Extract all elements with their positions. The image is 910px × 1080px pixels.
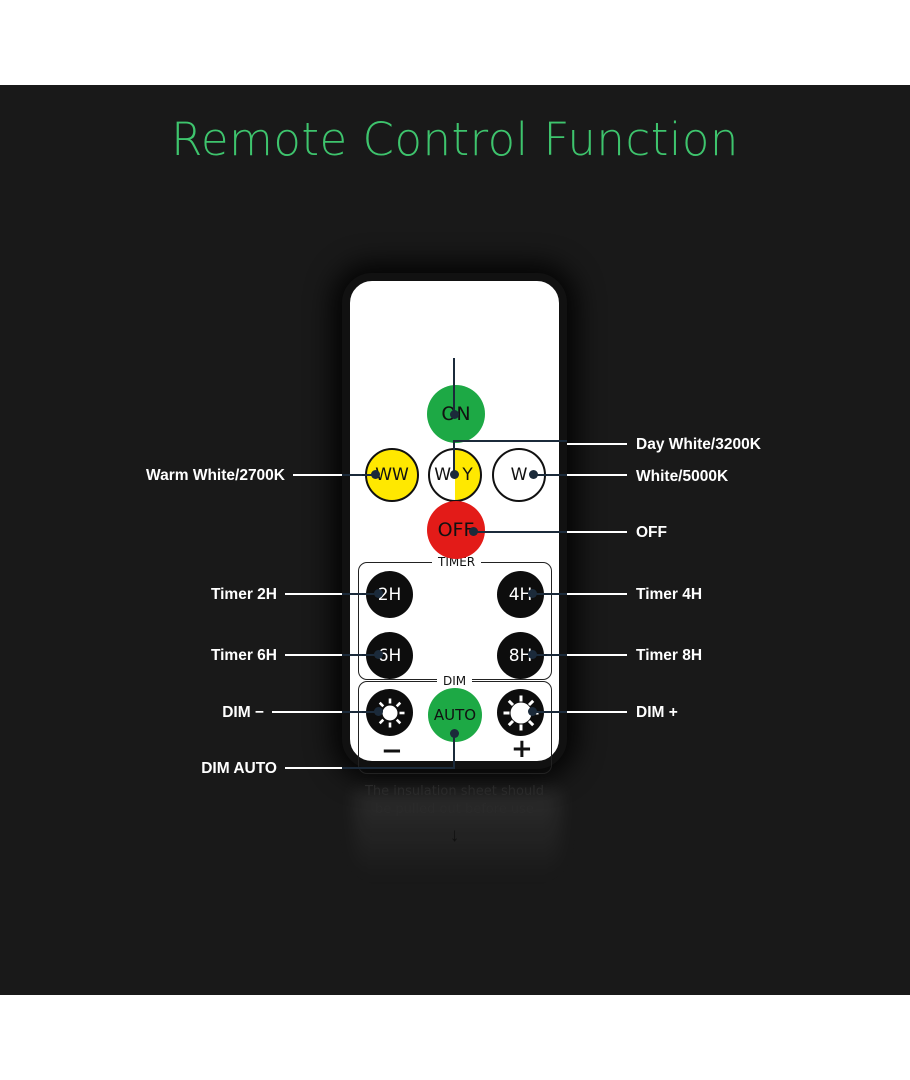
leader-dot-timer-6h — [374, 650, 383, 659]
leader-line-timer-4h — [567, 593, 627, 595]
leader-dot-on — [450, 410, 459, 419]
leader-inner-off — [472, 531, 567, 533]
callout-timer-4h: Timer 4H — [636, 586, 702, 604]
leader-inner-day-white-h — [453, 440, 567, 442]
callout-dim-auto: DIM AUTO — [73, 760, 277, 778]
leader-line-off — [567, 531, 627, 533]
leader-line-dim-plus — [567, 711, 627, 713]
leader-dot-dim-plus — [528, 707, 537, 716]
leader-line-timer-8h — [567, 654, 627, 656]
insulation-note: The insulation sheet should be pulled ou… — [352, 783, 557, 818]
callout-timer-2h: Timer 2H — [73, 586, 277, 604]
leader-dot-off — [469, 527, 478, 536]
callout-day-white: Day White/3200K — [636, 436, 761, 454]
callout-dim-minus: DIM − — [73, 704, 264, 722]
callout-on: ON — [383, 312, 523, 330]
insulation-note-line2: be pulled out before use — [352, 801, 557, 819]
leader-dot-timer-4h — [528, 589, 537, 598]
leader-line-day-white — [567, 443, 627, 445]
dim-section-label: DIM — [437, 674, 472, 688]
leader-dot-white-5000k — [529, 470, 538, 479]
dim-minus-sign: − — [381, 738, 403, 764]
page-root: Remote Control Function — [0, 0, 910, 1080]
callout-dim-plus: DIM + — [636, 704, 678, 722]
leader-inner-dim-auto-v — [453, 733, 455, 769]
leader-inner-on — [453, 358, 455, 414]
leader-dot-timer-8h — [528, 650, 537, 659]
dim-plus-sign: + — [511, 736, 533, 762]
insulation-arrow-icon: ↓ — [352, 826, 557, 845]
callout-white-5000k: White/5000K — [636, 468, 728, 486]
leader-dot-warm-white — [371, 470, 380, 479]
callout-timer-6h: Timer 6H — [73, 647, 277, 665]
leader-dot-timer-2h — [374, 589, 383, 598]
insulation-note-line1: The insulation sheet should — [352, 783, 557, 801]
callout-off: OFF — [636, 524, 667, 542]
leader-dot-dim-minus — [374, 707, 383, 716]
callout-warm-white: Warm White/2700K — [73, 467, 285, 485]
leader-dot-dim-auto — [450, 729, 459, 738]
leader-line-white-5000k — [567, 474, 627, 476]
leader-inner-dim-auto-h — [342, 767, 455, 769]
leader-line-on — [453, 334, 455, 358]
callout-timer-8h: Timer 8H — [636, 647, 702, 665]
leader-dot-day-white — [450, 470, 459, 479]
page-title: Remote Control Function — [0, 113, 910, 166]
